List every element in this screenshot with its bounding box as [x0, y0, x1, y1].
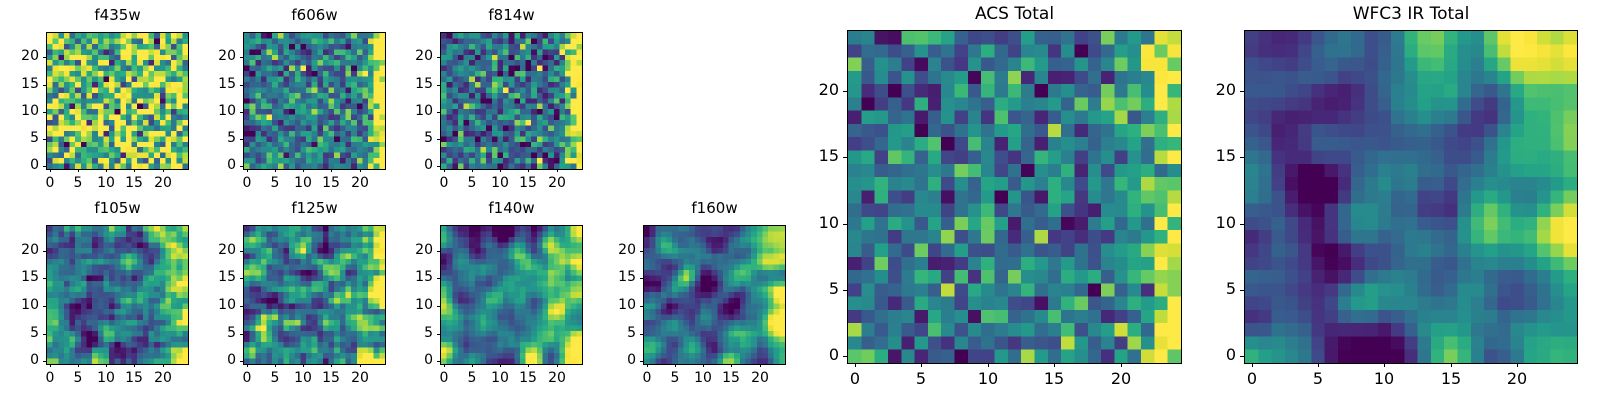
y-tick-f105w-3	[43, 278, 46, 279]
y-tick-f105w-1	[43, 334, 46, 335]
x-tick-label-f160w-4: 20	[730, 371, 790, 385]
x-tick-f105w-1	[78, 364, 79, 367]
x-tick-label-f814w-3: 15	[498, 176, 558, 190]
y-tick-label-wfc3-ir-total-2: 10	[1176, 215, 1236, 231]
x-tick-f105w-2	[106, 364, 107, 367]
x-tick-label-wfc3-ir-total-2: 10	[1354, 371, 1414, 387]
y-tick-f606w-4	[240, 57, 243, 58]
y-tick-f140w-0	[437, 361, 440, 362]
plot-area-f160w	[643, 225, 786, 365]
y-tick-f140w-3	[437, 278, 440, 279]
y-tick-label-acs-total-4: 20	[779, 82, 839, 98]
y-tick-f435w-1	[43, 139, 46, 140]
x-tick-f140w-4	[557, 364, 558, 367]
x-tick-label-f160w-1: 5	[645, 371, 705, 385]
y-tick-label-f435w-2: 10	[0, 104, 39, 118]
x-tick-label-f606w-2: 10	[273, 176, 333, 190]
x-tick-label-f606w-4: 20	[330, 176, 390, 190]
plot-area-wfc3-ir-total	[1244, 30, 1578, 364]
y-tick-f814w-3	[437, 85, 440, 86]
plot-area-f140w	[440, 225, 583, 365]
heatmap-image-f125w	[244, 226, 385, 364]
figure-canvas: f435w0510152005101520f606w05101520051015…	[0, 0, 1600, 400]
x-tick-label-f606w-3: 15	[301, 176, 361, 190]
plot-area-f814w	[440, 32, 583, 170]
panel-title-f105w: f105w	[46, 201, 189, 216]
x-tick-label-f814w-0: 0	[414, 176, 474, 190]
y-tick-label-f606w-2: 10	[176, 104, 236, 118]
y-tick-acs-total-0	[843, 356, 847, 357]
x-tick-label-acs-total-1: 5	[891, 371, 951, 387]
x-tick-label-f105w-0: 0	[20, 371, 80, 385]
x-tick-label-f140w-1: 5	[442, 371, 502, 385]
panel-f606w: f606w0510152005101520	[0, 0, 1600, 400]
y-tick-label-f435w-0: 0	[0, 158, 39, 172]
heatmap-image-acs-total	[848, 31, 1181, 363]
y-tick-f435w-0	[43, 166, 46, 167]
y-tick-label-f125w-3: 15	[176, 270, 236, 284]
y-tick-f435w-3	[43, 85, 46, 86]
x-tick-f140w-1	[472, 364, 473, 367]
x-tick-f160w-3	[731, 364, 732, 367]
y-tick-label-f606w-1: 5	[176, 131, 236, 145]
y-tick-f125w-4	[240, 251, 243, 252]
x-tick-label-f606w-1: 5	[245, 176, 305, 190]
y-tick-label-acs-total-2: 10	[779, 215, 839, 231]
x-tick-label-f125w-4: 20	[330, 371, 390, 385]
y-tick-label-f606w-4: 20	[176, 49, 236, 63]
x-tick-label-f435w-0: 0	[20, 176, 80, 190]
x-tick-f435w-1	[78, 169, 79, 172]
heatmap-image-f814w	[441, 33, 582, 169]
x-tick-acs-total-3	[1054, 363, 1055, 367]
y-tick-label-f814w-3: 15	[373, 77, 433, 91]
x-tick-wfc3-ir-total-0	[1252, 363, 1253, 367]
x-tick-label-wfc3-ir-total-4: 20	[1487, 371, 1547, 387]
y-tick-label-f814w-4: 20	[373, 49, 433, 63]
y-tick-label-f606w-3: 15	[176, 77, 236, 91]
x-tick-f160w-1	[675, 364, 676, 367]
y-tick-f814w-4	[437, 57, 440, 58]
y-tick-label-f140w-4: 20	[373, 243, 433, 257]
x-tick-label-f105w-3: 15	[104, 371, 164, 385]
y-tick-label-f814w-0: 0	[373, 158, 433, 172]
panel-f105w: f105w0510152005101520	[0, 0, 1600, 400]
x-tick-label-f125w-3: 15	[301, 371, 361, 385]
x-tick-f435w-0	[50, 169, 51, 172]
y-tick-f606w-2	[240, 112, 243, 113]
x-tick-f814w-0	[444, 169, 445, 172]
y-tick-label-f140w-1: 5	[373, 326, 433, 340]
y-tick-f814w-1	[437, 139, 440, 140]
panel-acs-total: ACS Total0510152005101520	[0, 0, 1600, 400]
panel-title-f606w: f606w	[243, 8, 386, 23]
x-tick-label-f125w-1: 5	[245, 371, 305, 385]
x-tick-label-wfc3-ir-total-3: 15	[1421, 371, 1481, 387]
heatmap-image-f140w	[441, 226, 582, 364]
y-tick-f105w-2	[43, 306, 46, 307]
y-tick-label-wfc3-ir-total-1: 5	[1176, 281, 1236, 297]
y-tick-acs-total-1	[843, 290, 847, 291]
panel-title-f435w: f435w	[46, 8, 189, 23]
panel-f125w: f125w0510152005101520	[0, 0, 1600, 400]
y-tick-label-f160w-2: 10	[576, 298, 636, 312]
x-tick-wfc3-ir-total-1	[1318, 363, 1319, 367]
x-tick-f125w-3	[331, 364, 332, 367]
x-tick-f140w-2	[500, 364, 501, 367]
y-tick-label-f125w-4: 20	[176, 243, 236, 257]
y-tick-label-f105w-2: 10	[0, 298, 39, 312]
x-tick-label-f105w-1: 5	[48, 371, 108, 385]
x-tick-wfc3-ir-total-3	[1451, 363, 1452, 367]
x-tick-label-f125w-0: 0	[217, 371, 277, 385]
x-tick-f606w-3	[331, 169, 332, 172]
y-tick-f125w-0	[240, 361, 243, 362]
y-tick-label-f125w-2: 10	[176, 298, 236, 312]
x-tick-acs-total-2	[988, 363, 989, 367]
x-tick-label-f105w-4: 20	[133, 371, 193, 385]
x-tick-label-f814w-1: 5	[442, 176, 502, 190]
x-tick-f125w-2	[303, 364, 304, 367]
y-tick-label-f814w-2: 10	[373, 104, 433, 118]
y-tick-wfc3-ir-total-1	[1240, 290, 1244, 291]
panel-title-f140w: f140w	[440, 201, 583, 216]
x-tick-label-f606w-0: 0	[217, 176, 277, 190]
y-tick-label-f125w-0: 0	[176, 353, 236, 367]
x-tick-acs-total-0	[855, 363, 856, 367]
x-tick-label-f140w-2: 10	[470, 371, 530, 385]
y-tick-f125w-2	[240, 306, 243, 307]
x-tick-label-acs-total-0: 0	[825, 371, 885, 387]
y-tick-wfc3-ir-total-3	[1240, 157, 1244, 158]
x-tick-f814w-4	[557, 169, 558, 172]
x-tick-f606w-2	[303, 169, 304, 172]
panel-f435w: f435w0510152005101520	[0, 0, 1600, 400]
x-tick-wfc3-ir-total-4	[1517, 363, 1518, 367]
x-tick-f125w-4	[360, 364, 361, 367]
y-tick-f606w-3	[240, 85, 243, 86]
y-tick-f160w-4	[640, 251, 643, 252]
y-tick-f140w-2	[437, 306, 440, 307]
x-tick-f140w-0	[444, 364, 445, 367]
x-tick-acs-total-1	[921, 363, 922, 367]
y-tick-f435w-4	[43, 57, 46, 58]
panel-title-f125w: f125w	[243, 201, 386, 216]
y-tick-label-f105w-3: 15	[0, 270, 39, 284]
y-tick-wfc3-ir-total-0	[1240, 356, 1244, 357]
x-tick-f105w-4	[163, 364, 164, 367]
plot-area-acs-total	[847, 30, 1182, 364]
plot-area-f125w	[243, 225, 386, 365]
heatmap-image-f606w	[244, 33, 385, 169]
heatmap-image-f160w	[644, 226, 785, 364]
x-tick-label-acs-total-2: 10	[958, 371, 1018, 387]
panel-title-wfc3-ir-total: WFC3 IR Total	[1244, 6, 1578, 23]
x-tick-f435w-4	[163, 169, 164, 172]
x-tick-label-acs-total-3: 15	[1024, 371, 1084, 387]
y-tick-label-wfc3-ir-total-4: 20	[1176, 82, 1236, 98]
y-tick-label-f160w-1: 5	[576, 326, 636, 340]
x-tick-f814w-2	[500, 169, 501, 172]
x-tick-label-f140w-0: 0	[414, 371, 474, 385]
y-tick-label-f140w-2: 10	[373, 298, 433, 312]
x-tick-label-f435w-4: 20	[133, 176, 193, 190]
y-tick-label-f160w-4: 20	[576, 243, 636, 257]
y-tick-label-f105w-1: 5	[0, 326, 39, 340]
x-tick-label-f814w-4: 20	[527, 176, 587, 190]
y-tick-f160w-2	[640, 306, 643, 307]
panel-f814w: f814w0510152005101520	[0, 0, 1600, 400]
y-tick-f105w-4	[43, 251, 46, 252]
y-tick-f606w-1	[240, 139, 243, 140]
x-tick-f105w-3	[134, 364, 135, 367]
heatmap-image-f105w	[47, 226, 188, 364]
x-tick-label-acs-total-4: 20	[1091, 371, 1151, 387]
panel-f140w: f140w0510152005101520	[0, 0, 1600, 400]
y-tick-f814w-0	[437, 166, 440, 167]
x-tick-label-f140w-3: 15	[498, 371, 558, 385]
x-tick-label-f105w-2: 10	[76, 371, 136, 385]
y-tick-label-f814w-1: 5	[373, 131, 433, 145]
y-tick-f160w-1	[640, 334, 643, 335]
y-tick-label-f160w-3: 15	[576, 270, 636, 284]
y-tick-label-acs-total-3: 15	[779, 148, 839, 164]
y-tick-f140w-1	[437, 334, 440, 335]
x-tick-label-f160w-2: 10	[673, 371, 733, 385]
x-tick-label-f435w-2: 10	[76, 176, 136, 190]
x-tick-f814w-3	[528, 169, 529, 172]
x-tick-label-wfc3-ir-total-1: 5	[1288, 371, 1348, 387]
x-tick-f125w-0	[247, 364, 248, 367]
heatmap-image-wfc3-ir-total	[1245, 31, 1577, 363]
y-tick-label-acs-total-0: 0	[779, 347, 839, 363]
heatmap-image-f435w	[47, 33, 188, 169]
y-tick-label-f160w-0: 0	[576, 353, 636, 367]
y-tick-f160w-3	[640, 278, 643, 279]
y-tick-label-wfc3-ir-total-3: 15	[1176, 148, 1236, 164]
y-tick-acs-total-3	[843, 157, 847, 158]
y-tick-f140w-4	[437, 251, 440, 252]
y-tick-label-f105w-0: 0	[0, 353, 39, 367]
panel-title-f160w: f160w	[643, 201, 786, 216]
x-tick-f814w-1	[472, 169, 473, 172]
y-tick-f105w-0	[43, 361, 46, 362]
panel-f160w: f160w0510152005101520	[0, 0, 1600, 400]
plot-area-f435w	[46, 32, 189, 170]
y-tick-f125w-3	[240, 278, 243, 279]
y-tick-f814w-2	[437, 112, 440, 113]
y-tick-label-f140w-0: 0	[373, 353, 433, 367]
x-tick-label-f435w-1: 5	[48, 176, 108, 190]
x-tick-f160w-0	[647, 364, 648, 367]
y-tick-acs-total-4	[843, 91, 847, 92]
y-tick-label-f125w-1: 5	[176, 326, 236, 340]
y-tick-wfc3-ir-total-2	[1240, 224, 1244, 225]
x-tick-f125w-1	[275, 364, 276, 367]
panel-title-acs-total: ACS Total	[847, 6, 1182, 23]
plot-area-f105w	[46, 225, 189, 365]
y-tick-label-f105w-4: 20	[0, 243, 39, 257]
x-tick-label-f435w-3: 15	[104, 176, 164, 190]
y-tick-label-f140w-3: 15	[373, 270, 433, 284]
x-tick-f160w-4	[760, 364, 761, 367]
x-tick-label-f160w-0: 0	[617, 371, 677, 385]
x-tick-f105w-0	[50, 364, 51, 367]
y-tick-wfc3-ir-total-4	[1240, 91, 1244, 92]
y-tick-acs-total-2	[843, 224, 847, 225]
x-tick-label-wfc3-ir-total-0: 0	[1222, 371, 1282, 387]
y-tick-label-f435w-3: 15	[0, 77, 39, 91]
x-tick-f606w-4	[360, 169, 361, 172]
y-tick-label-acs-total-1: 5	[779, 281, 839, 297]
panel-wfc3-ir-total: WFC3 IR Total0510152005101520	[0, 0, 1600, 400]
x-tick-label-f160w-3: 15	[701, 371, 761, 385]
y-tick-f435w-2	[43, 112, 46, 113]
panel-title-f814w: f814w	[440, 8, 583, 23]
x-tick-acs-total-4	[1121, 363, 1122, 367]
x-tick-f606w-0	[247, 169, 248, 172]
y-tick-label-f606w-0: 0	[176, 158, 236, 172]
y-tick-label-wfc3-ir-total-0: 0	[1176, 347, 1236, 363]
y-tick-label-f435w-1: 5	[0, 131, 39, 145]
y-tick-f125w-1	[240, 334, 243, 335]
plot-area-f606w	[243, 32, 386, 170]
x-tick-label-f814w-2: 10	[470, 176, 530, 190]
y-tick-label-f435w-4: 20	[0, 49, 39, 63]
x-tick-f140w-3	[528, 364, 529, 367]
x-tick-f606w-1	[275, 169, 276, 172]
x-tick-label-f140w-4: 20	[527, 371, 587, 385]
x-tick-wfc3-ir-total-2	[1384, 363, 1385, 367]
x-tick-f160w-2	[703, 364, 704, 367]
y-tick-f606w-0	[240, 166, 243, 167]
x-tick-label-f125w-2: 10	[273, 371, 333, 385]
y-tick-f160w-0	[640, 361, 643, 362]
x-tick-f435w-3	[134, 169, 135, 172]
x-tick-f435w-2	[106, 169, 107, 172]
